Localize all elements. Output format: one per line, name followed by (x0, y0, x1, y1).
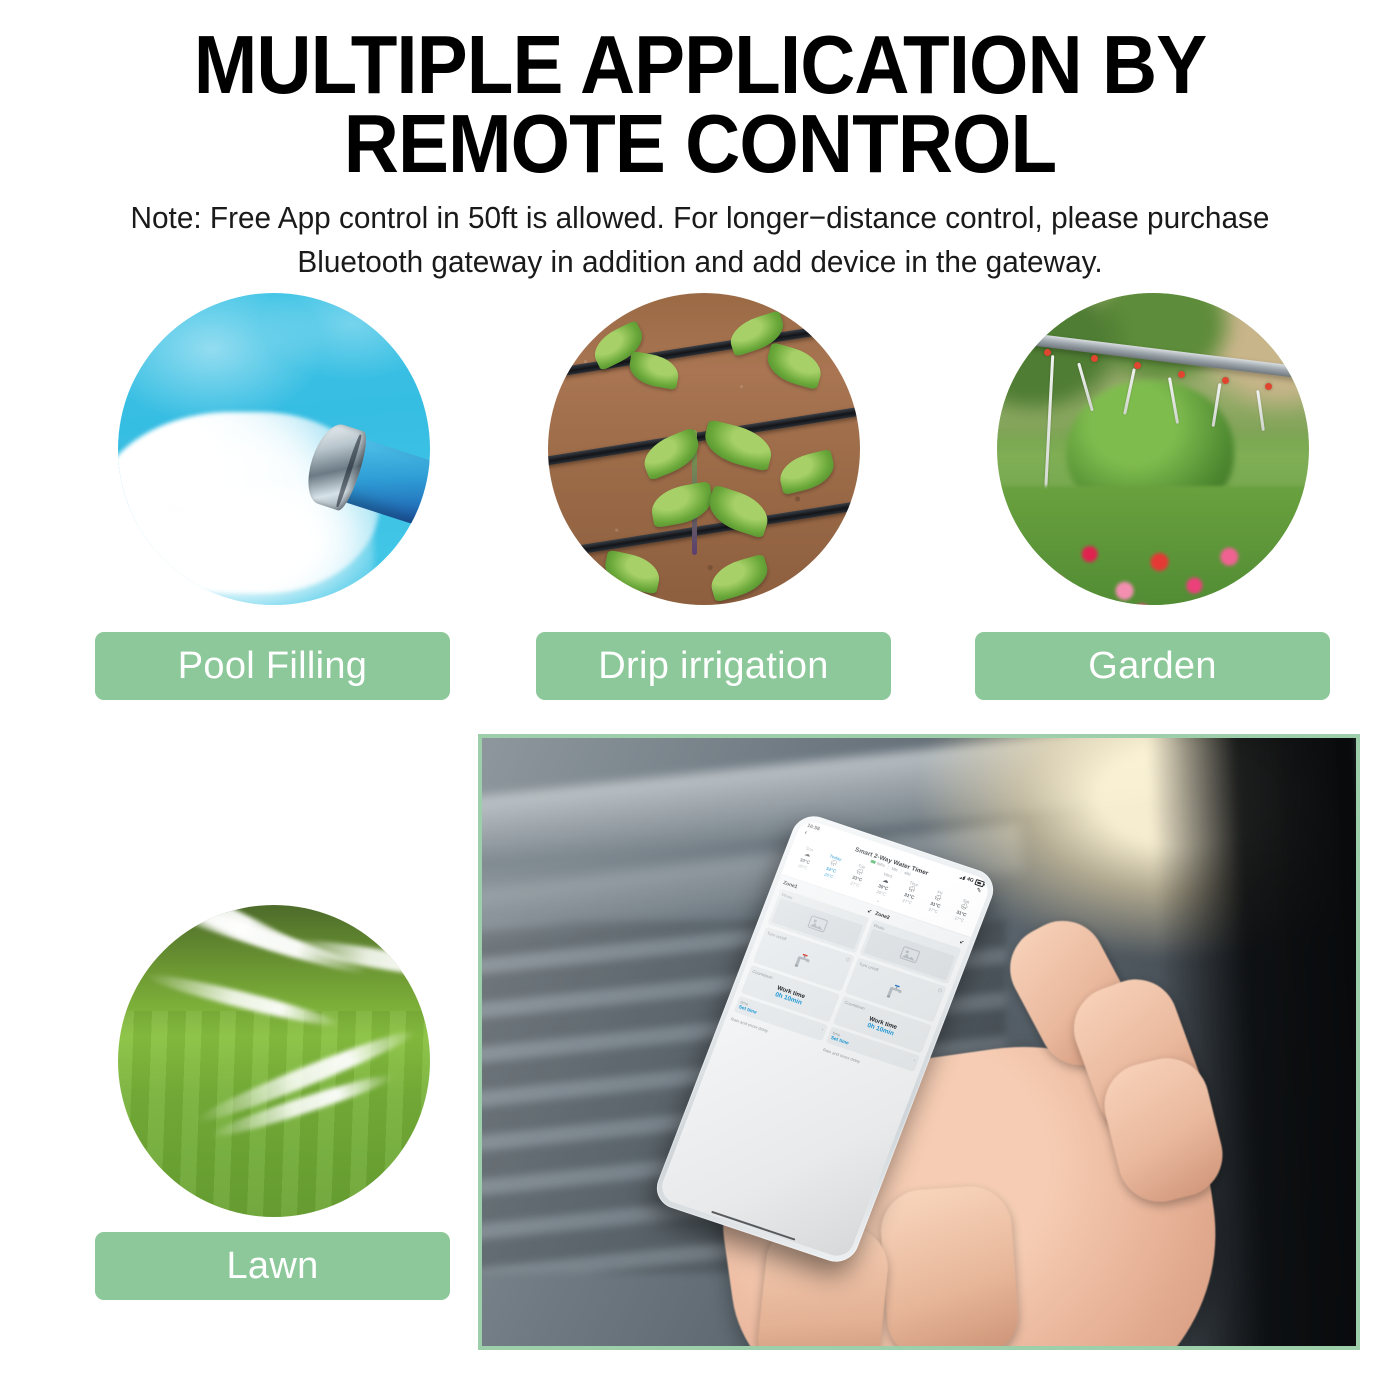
dripper-emitter (1134, 362, 1141, 369)
dripper-emitter (1222, 377, 1229, 384)
chevron-right-icon[interactable]: › (821, 1027, 824, 1032)
device-status-item-2: site (891, 866, 899, 873)
zone-1-name: Zone1 (782, 880, 798, 890)
weather-day-sat[interactable]: Sat 🌧 31°C 27°C (947, 895, 979, 925)
power-icon[interactable]: ⏻ (937, 987, 943, 994)
application-label-garden: Garden (975, 632, 1330, 700)
application-image-drip (548, 293, 860, 605)
dripper-emitter (1091, 355, 1098, 362)
zone-2-name: Zone2 (874, 910, 890, 920)
divider: | (900, 869, 903, 874)
dripper-emitter (1178, 371, 1185, 378)
application-label-lawn: Lawn (95, 1232, 450, 1300)
application-image-lawn (118, 905, 430, 1217)
page-title-line-2: REMOTE CONTROL (56, 105, 1344, 184)
expand-icon[interactable]: ↙ (959, 939, 965, 946)
application-image-garden (997, 293, 1309, 605)
lower-finger-1 (878, 1184, 1021, 1350)
application-label-pool: Pool Filling (95, 632, 450, 700)
chevron-right-icon[interactable]: › (913, 1058, 916, 1063)
device-status-item-3: site (904, 870, 912, 877)
power-icon[interactable]: ⏻ (845, 956, 851, 963)
flower-bed (997, 486, 1309, 605)
back-chevron-icon[interactable]: ‹ (803, 829, 808, 836)
divider: | (887, 864, 890, 869)
page-title: MULTIPLE APPLICATION BY REMOTE CONTROL (56, 26, 1344, 184)
application-label-drip: Drip irrigation (536, 632, 891, 700)
pencil-icon[interactable]: ✎ (975, 887, 982, 895)
application-image-pool (118, 293, 430, 605)
phone-in-hand-photo: 16:58 4G ‹ Smart 2-Way Water Timer ✎ 98%… (478, 734, 1360, 1350)
expand-icon[interactable]: ↙ (867, 908, 873, 915)
signal-bars-icon (959, 875, 966, 881)
dripper-emitter (1044, 349, 1051, 356)
note-text: Note: Free App control in 50ft is allowe… (95, 196, 1305, 284)
battery-level-icon (870, 860, 876, 864)
